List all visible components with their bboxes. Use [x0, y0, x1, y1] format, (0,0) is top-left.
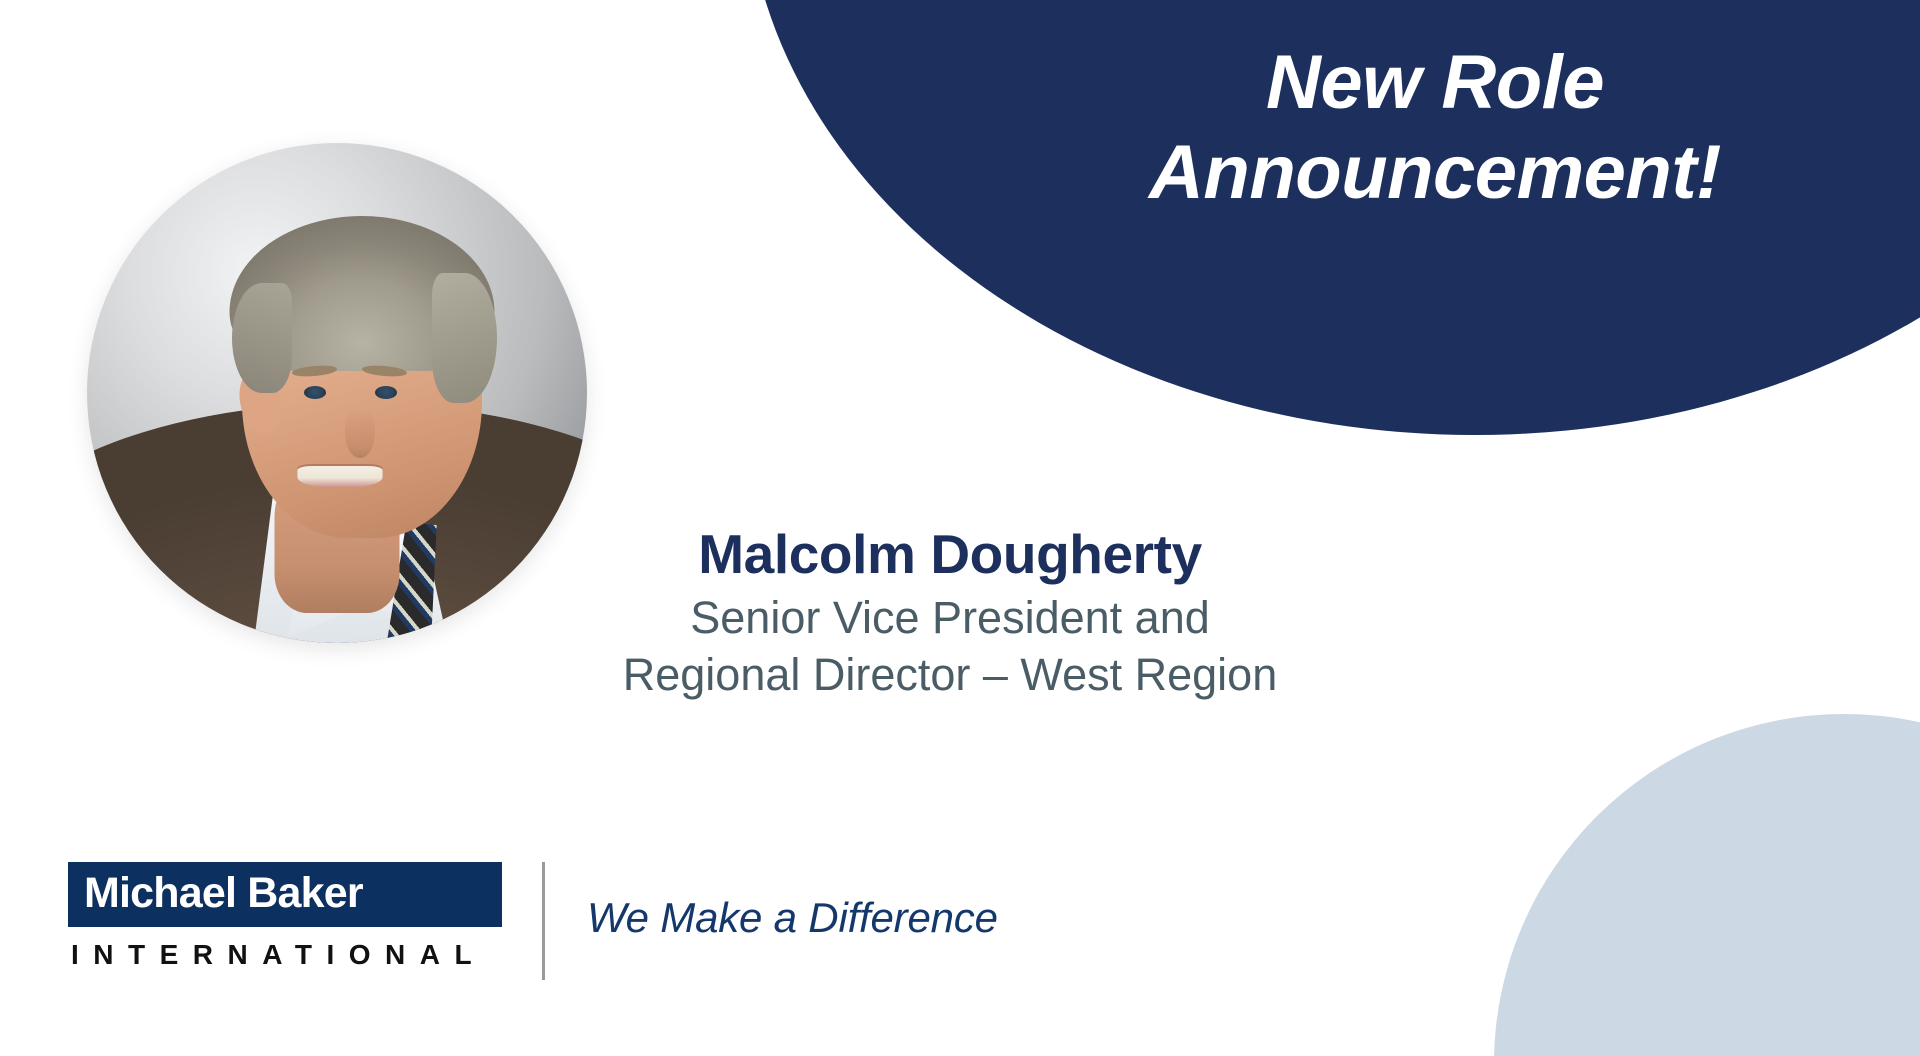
- logo-navy-bar: Michael Baker: [68, 862, 502, 927]
- logo-descriptor: INTERNATIONAL: [68, 927, 502, 969]
- logo-company-name: Michael Baker: [84, 871, 486, 916]
- decorative-light-blue-circle: [1494, 714, 1920, 1056]
- nose-shape: [345, 408, 375, 458]
- hair-side-right-shape: [432, 273, 497, 403]
- announcement-banner: New Role Announcement! Malcolm Dougherty: [0, 0, 1920, 1056]
- logo-lockup: Michael Baker INTERNATIONAL We Make a Di…: [68, 862, 998, 980]
- headline: New Role Announcement!: [980, 38, 1890, 217]
- person-name: Malcolm Dougherty: [480, 525, 1420, 584]
- mouth-shape: [297, 466, 382, 488]
- eye-left-shape: [304, 386, 326, 399]
- logo-divider: [542, 862, 545, 980]
- person-title-line-2: Regional Director – West Region: [480, 647, 1420, 704]
- hair-side-left-shape: [232, 283, 292, 393]
- michael-baker-logo: Michael Baker INTERNATIONAL: [68, 862, 502, 980]
- eye-right-shape: [375, 386, 397, 399]
- headline-line-1: New Role: [980, 38, 1890, 128]
- person-title-line-1: Senior Vice President and: [480, 590, 1420, 647]
- person-title: Senior Vice President and Regional Direc…: [480, 590, 1420, 703]
- headline-line-2: Announcement!: [980, 128, 1890, 218]
- person-details: Malcolm Dougherty Senior Vice President …: [480, 525, 1420, 704]
- company-tagline: We Make a Difference: [587, 894, 998, 948]
